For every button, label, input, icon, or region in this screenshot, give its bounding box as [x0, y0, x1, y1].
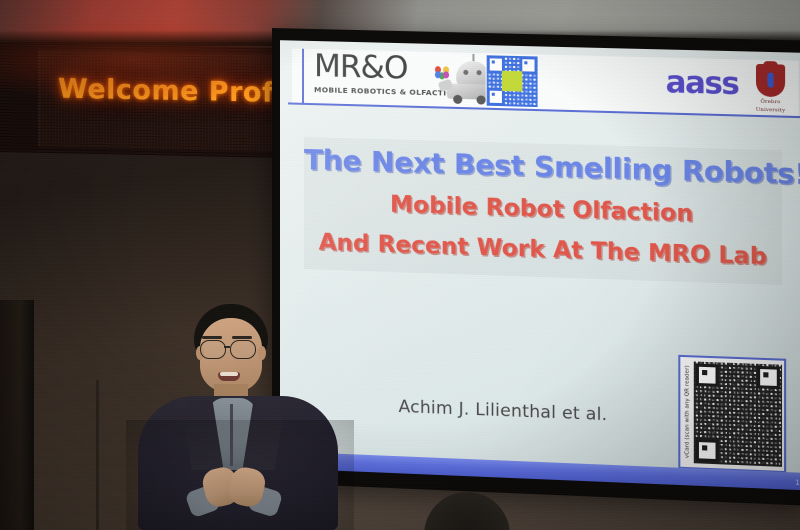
speaker-zipper [230, 404, 233, 466]
crest-line-1: Örebro [751, 98, 791, 105]
qr-finder-bottom-left-icon [488, 89, 504, 106]
slide-author: Achim J. Lilienthal et al. [399, 397, 608, 425]
speaker-eyeglass-left [200, 340, 226, 359]
speaker-eyeglass-bridge [224, 346, 230, 348]
speaker-ear-right [258, 346, 266, 360]
crest-shield-icon [756, 64, 785, 97]
robot-eye-left-icon [463, 70, 468, 75]
header-vertical-rule [302, 49, 304, 105]
qr-finder-top-right-icon [520, 57, 536, 74]
flower-icon [434, 66, 450, 83]
speaker-teeth [220, 372, 238, 376]
slide-title-line-3: And Recent Work At The MRO Lab [304, 229, 782, 271]
slide-title-line-2: Mobile Robot Olfaction [304, 189, 782, 230]
orebro-university-crest: Örebro University [751, 64, 791, 115]
slide-title-block: The Next Best Smelling Robots! Mobile Ro… [304, 137, 782, 285]
qr-center-logo [502, 71, 522, 92]
wall-panel-seam [96, 380, 99, 530]
qr-code-icon-header [486, 54, 539, 108]
speaker-eyebrow-right [232, 336, 252, 339]
speaker-mouth [218, 372, 240, 381]
lecture-hall-photo: Welcome Prof. A MR&O MOBILE ROBOTICS & O… [0, 0, 800, 530]
vcard-qr-code: vCard (scan with any QR reader) [678, 355, 786, 473]
vcard-qr-caption: vCard (scan with any QR reader) [684, 365, 779, 462]
robot-wheel-right-icon [477, 95, 486, 104]
qr-small-pattern [487, 55, 538, 107]
robot-eye-right-icon [477, 70, 482, 75]
speaker-eyeglass-right [230, 340, 256, 359]
room-left-column [0, 300, 34, 530]
presenter-speaker [120, 300, 360, 530]
aass-logo: aass [666, 68, 739, 100]
crest-line-2: University [751, 107, 791, 114]
robot-wheel-left-icon [453, 95, 462, 104]
slide-title-line-1: The Next Best Smelling Robots! [304, 143, 782, 190]
speaker-eyebrow-left [202, 336, 222, 339]
slide-number: 1 [795, 479, 800, 487]
